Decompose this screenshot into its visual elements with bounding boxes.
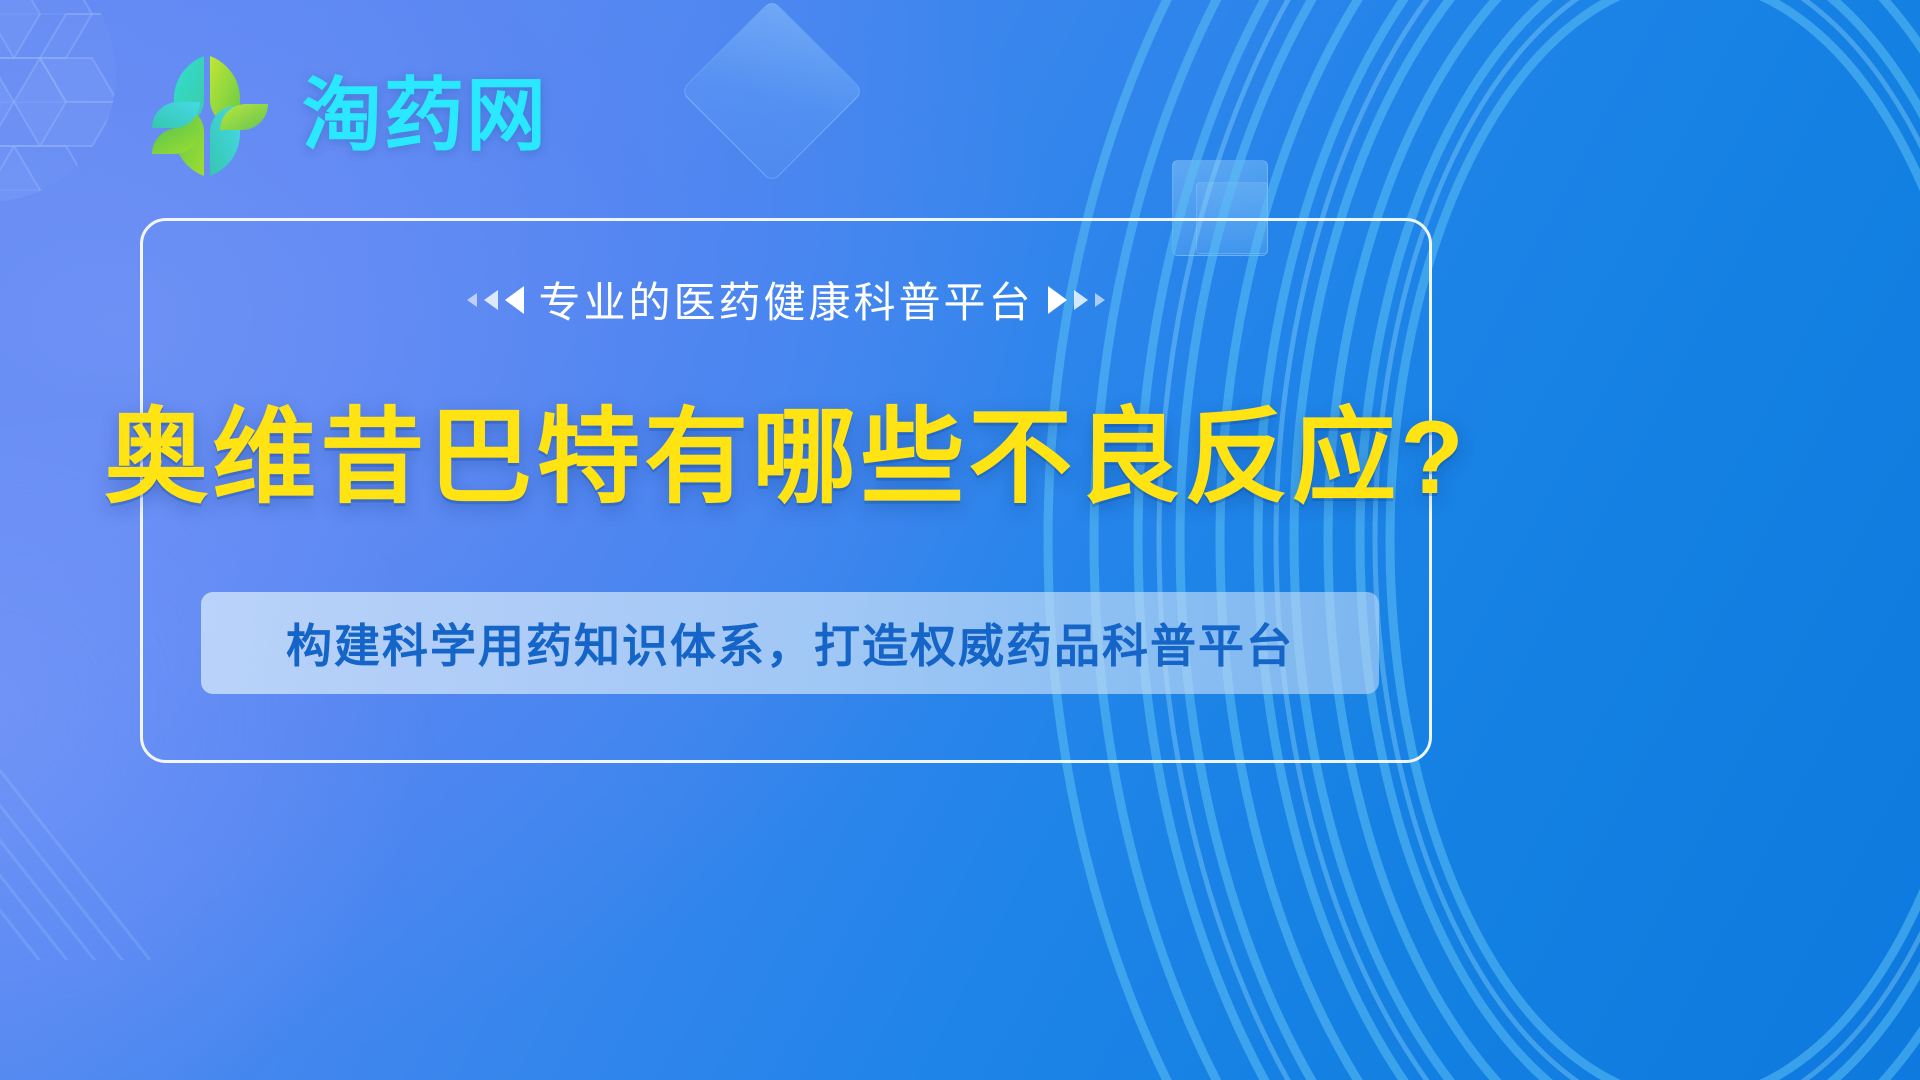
triangle-right-arrows-icon bbox=[1048, 286, 1105, 314]
page-title: 奥维昔巴特有哪些不良反应? bbox=[104, 404, 1468, 513]
triangle-left-arrows-icon bbox=[467, 286, 524, 314]
eyebrow-text: 专业的医药健康科普平台 bbox=[538, 269, 1033, 330]
tagline-pill: 构建科学用药知识体系，打造权威药品科普平台 bbox=[201, 592, 1379, 694]
promo-banner: 淘药网 专业的医药健康科普平台 奥维昔巴特有哪些不良反应? 构建科学用药知识体系… bbox=[0, 0, 1920, 1080]
leaf-cross-logo-icon bbox=[140, 52, 276, 180]
content-frame: 专业的医药健康科普平台 奥维昔巴特有哪些不良反应? 构建科学用药知识体系，打造权… bbox=[140, 218, 1432, 763]
diamond-cube-icon bbox=[680, 0, 864, 183]
brand-name: 淘药网 bbox=[302, 76, 548, 156]
eyebrow-row: 专业的医药健康科普平台 bbox=[467, 269, 1104, 330]
brand-logo-row[interactable]: 淘药网 bbox=[140, 52, 548, 180]
hexagon-cluster-icon bbox=[0, 0, 152, 232]
